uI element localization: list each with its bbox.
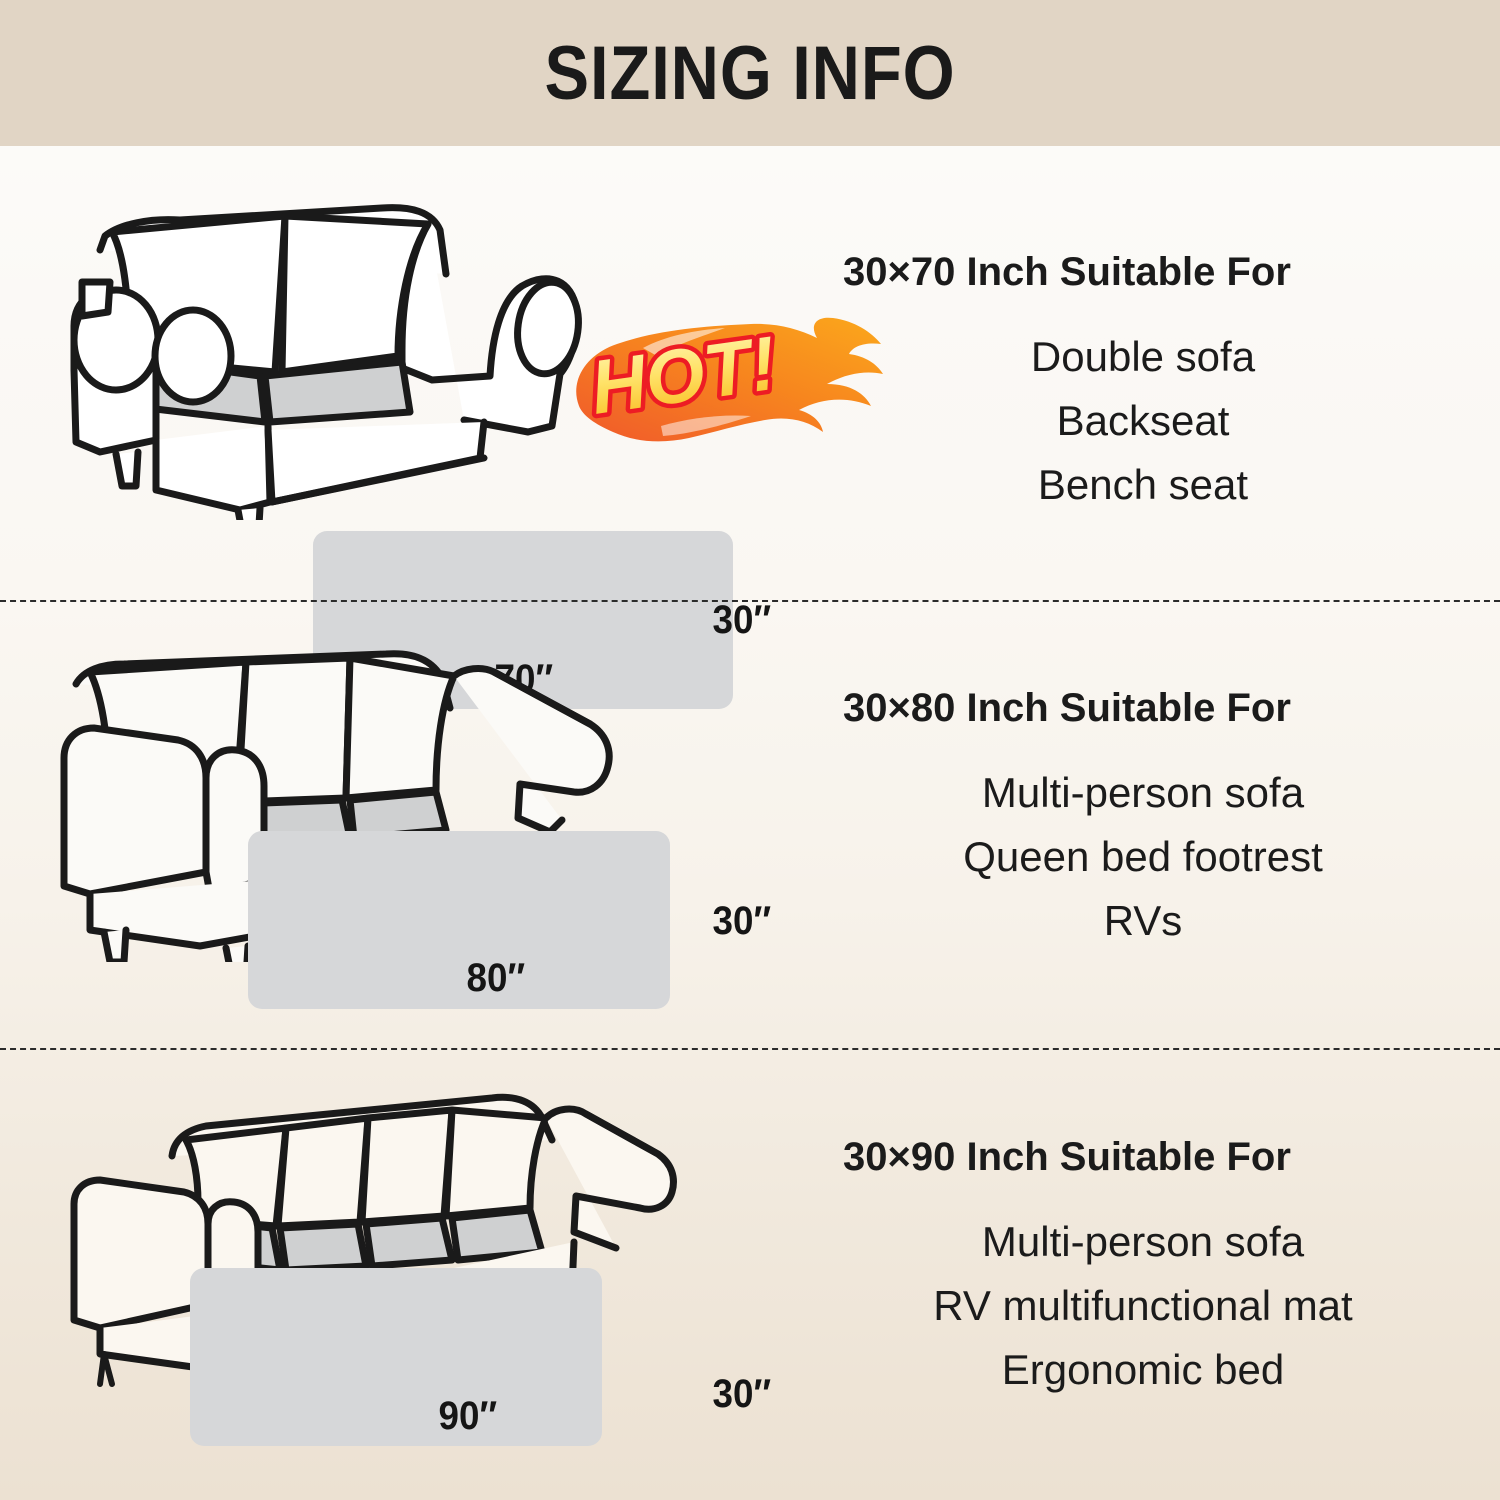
use-item: Multi-person sofa bbox=[843, 1210, 1443, 1274]
page-title: SIZING INFO bbox=[90, 30, 1410, 117]
use-item: Backseat bbox=[843, 389, 1443, 453]
height-label-30: 30″ bbox=[713, 1372, 772, 1417]
size-section-30x80: 80″ 30″ 30×80 Inch Suitable For Multi-pe… bbox=[0, 602, 1500, 1048]
header-band: SIZING INFO bbox=[0, 0, 1500, 146]
use-item: Bench seat bbox=[843, 453, 1443, 517]
height-label-30: 30″ bbox=[713, 899, 772, 944]
use-item: RVs bbox=[843, 889, 1443, 953]
use-list-30x80: Multi-person sofa Queen bed footrest RVs bbox=[843, 761, 1443, 952]
width-label-90: 90″ bbox=[439, 1394, 498, 1439]
use-item: Queen bed footrest bbox=[843, 825, 1443, 889]
two-seat-rolled-arm-sofa-icon bbox=[60, 190, 620, 520]
use-item: RV multifunctional mat bbox=[843, 1274, 1443, 1338]
dimension-rect-30x80 bbox=[248, 831, 670, 1009]
use-list-30x70: Double sofa Backseat Bench seat bbox=[843, 325, 1443, 516]
size-section-30x70: HOT! HOT! 70″ 30″ 30×70 Inch Suitable Fo… bbox=[0, 146, 1500, 600]
width-label-80: 80″ bbox=[467, 956, 526, 1001]
use-item: Ergonomic bed bbox=[843, 1338, 1443, 1402]
text-block-30x80: 30×80 Inch Suitable For Multi-person sof… bbox=[843, 686, 1443, 952]
dimension-rect-30x90 bbox=[190, 1268, 602, 1446]
text-block-30x70: 30×70 Inch Suitable For Double sofa Back… bbox=[843, 250, 1443, 516]
text-block-30x90: 30×90 Inch Suitable For Multi-person sof… bbox=[843, 1135, 1443, 1401]
use-item: Multi-person sofa bbox=[843, 761, 1443, 825]
size-section-30x90: 90″ 30″ 30×90 Inch Suitable For Multi-pe… bbox=[0, 1050, 1500, 1500]
use-item: Double sofa bbox=[843, 325, 1443, 389]
use-list-30x90: Multi-person sofa RV multifunctional mat… bbox=[843, 1210, 1443, 1401]
hot-flame-icon: HOT! HOT! bbox=[565, 314, 885, 454]
section-heading-30x70: 30×70 Inch Suitable For bbox=[843, 250, 1443, 295]
hot-badge: HOT! HOT! bbox=[565, 314, 885, 454]
sizing-info-page: SIZING INFO bbox=[0, 0, 1500, 1500]
section-heading-30x80: 30×80 Inch Suitable For bbox=[843, 686, 1443, 731]
section-heading-30x90: 30×90 Inch Suitable For bbox=[843, 1135, 1443, 1180]
